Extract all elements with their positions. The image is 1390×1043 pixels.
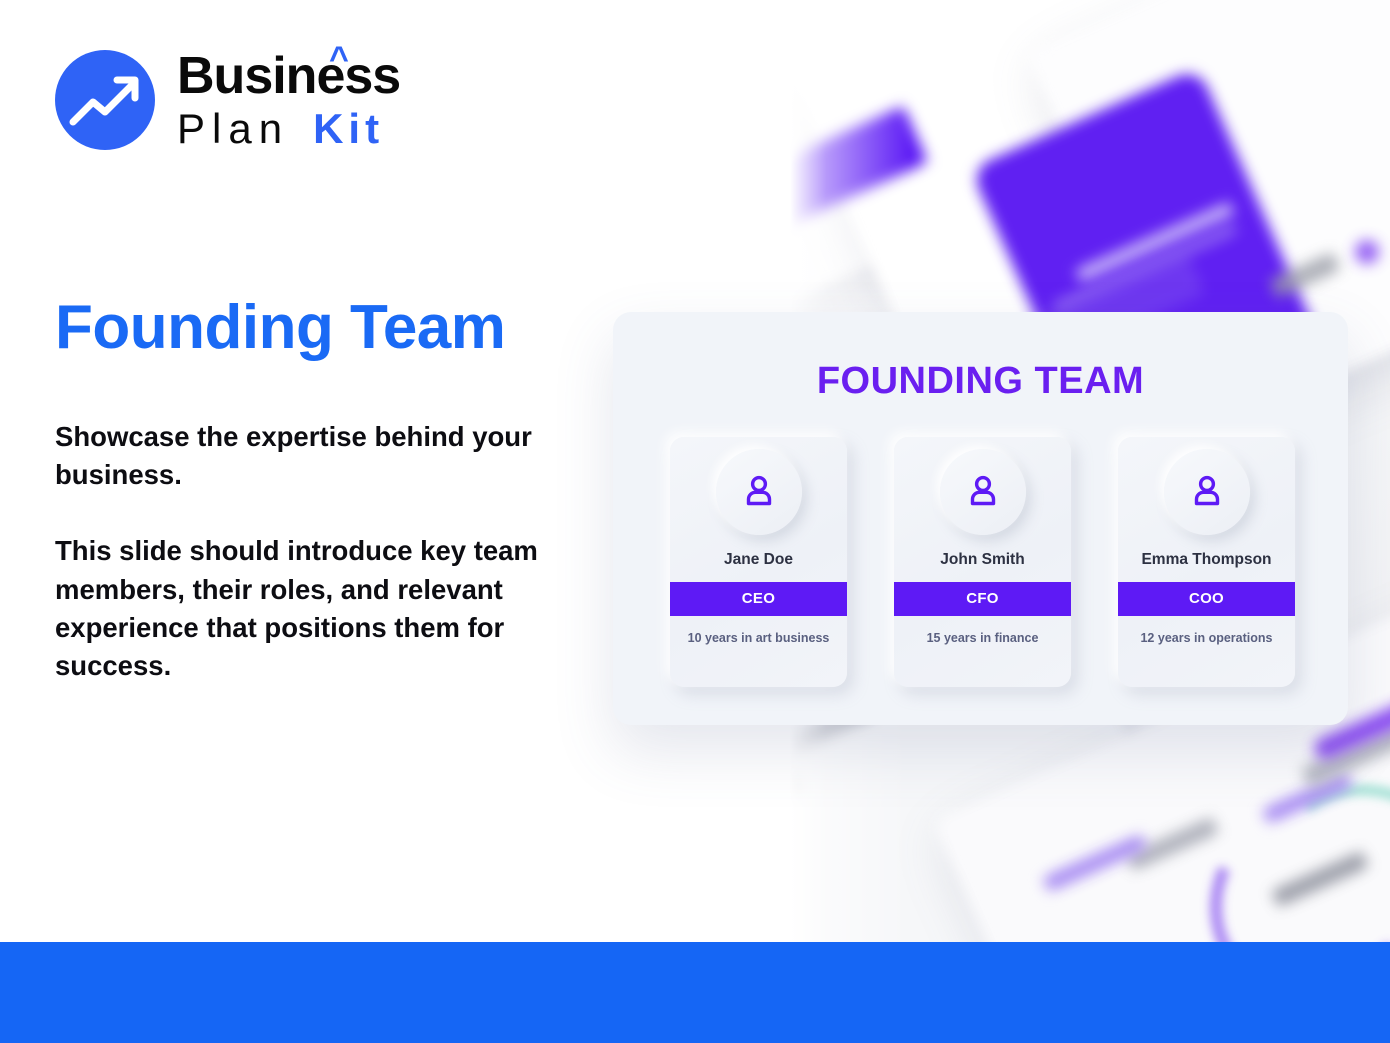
brand-name-plan: Plan: [177, 108, 289, 150]
footer-bar: [0, 942, 1390, 1043]
growth-arrow-circle-icon: [55, 50, 155, 150]
brand-wordmark: Business ^ Plan Kit: [177, 50, 400, 150]
slide-preview-panel: FOUNDING TEAM Jane Doe CEO 10 years in a…: [613, 312, 1348, 725]
preview-title: FOUNDING TEAM: [613, 360, 1348, 403]
team-member-row: Jane Doe CEO 10 years in art business Jo…: [670, 437, 1295, 687]
member-role-badge: CEO: [670, 582, 847, 616]
decorative-purple-dot: [1355, 240, 1379, 264]
person-icon: [963, 472, 1003, 512]
team-member-card[interactable]: John Smith CFO 15 years in finance: [894, 437, 1071, 687]
brand-name-business: Business ^: [177, 50, 400, 102]
brand-name-plan-kit: Plan Kit: [177, 108, 400, 150]
brand-name-business-text: Business: [177, 47, 400, 105]
brand-name-kit: Kit: [313, 108, 384, 150]
member-experience: 15 years in finance: [921, 631, 1045, 646]
team-member-card[interactable]: Jane Doe CEO 10 years in art business: [670, 437, 847, 687]
description-paragraph-1: Showcase the expertise behind your busin…: [55, 418, 565, 494]
description-block: Showcase the expertise behind your busin…: [55, 418, 565, 685]
team-member-card[interactable]: Emma Thompson COO 12 years in operations: [1118, 437, 1295, 687]
brand-logo: Business ^ Plan Kit: [55, 50, 400, 150]
member-experience: 12 years in operations: [1134, 631, 1278, 646]
page-title: Founding Team: [55, 295, 505, 360]
member-name: Emma Thompson: [1141, 552, 1271, 568]
slide-canvas: Business ^ Plan Kit Founding Team Showca…: [0, 0, 1390, 1043]
description-paragraph-2: This slide should introduce key team mem…: [55, 532, 565, 685]
caret-accent-icon: ^: [329, 42, 348, 76]
person-icon: [1187, 472, 1227, 512]
avatar: [1164, 449, 1250, 535]
member-name: Jane Doe: [724, 552, 793, 568]
member-name: John Smith: [940, 552, 1024, 568]
member-role-badge: COO: [1118, 582, 1295, 616]
person-icon: [739, 472, 779, 512]
member-role-badge: CFO: [894, 582, 1071, 616]
avatar: [940, 449, 1026, 535]
avatar: [716, 449, 802, 535]
member-experience: 10 years in art business: [682, 631, 836, 646]
